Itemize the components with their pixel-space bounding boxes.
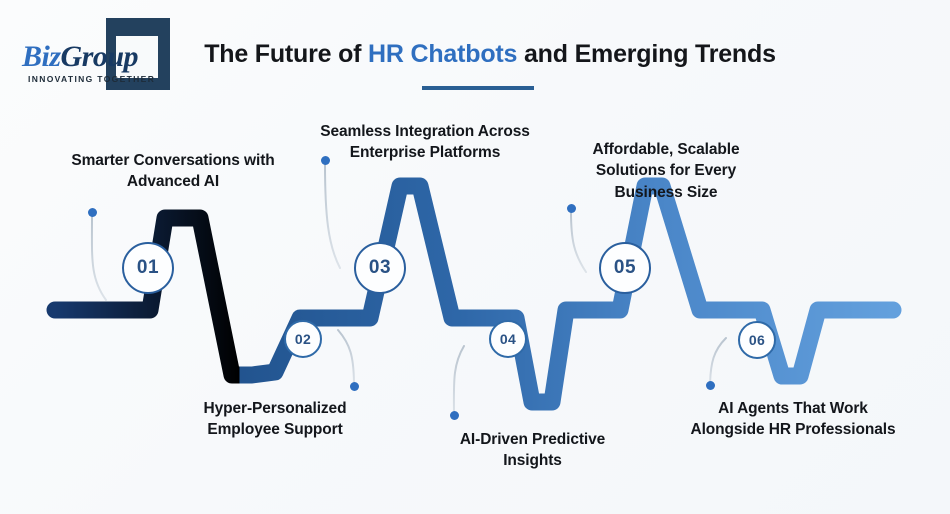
logo-wordmark-group: Group bbox=[61, 40, 139, 73]
logo-wordmark-biz: Biz bbox=[22, 40, 61, 73]
milestone-node-02[interactable]: 02 bbox=[284, 320, 322, 358]
milestone-label-05-line3: Business Size bbox=[556, 182, 776, 203]
connector-dot-02 bbox=[350, 382, 359, 391]
milestone-label-02: Hyper-Personalized Employee Support bbox=[160, 398, 390, 441]
milestone-label-01-line2: Advanced AI bbox=[28, 171, 318, 192]
milestone-node-04[interactable]: 04 bbox=[489, 320, 527, 358]
milestone-label-03: Seamless Integration Across Enterprise P… bbox=[290, 121, 560, 164]
wave-line bbox=[55, 186, 893, 402]
milestone-label-02-line2: Employee Support bbox=[160, 419, 390, 440]
connector-stem-04 bbox=[454, 346, 464, 419]
connector-stem-03 bbox=[325, 164, 340, 268]
connector-dot-04 bbox=[450, 411, 459, 420]
milestone-label-02-line1: Hyper-Personalized bbox=[160, 398, 390, 419]
logo-wordmark: BizGroup bbox=[22, 40, 138, 74]
milestone-label-04: AI-Driven Predictive Insights bbox=[420, 429, 645, 472]
milestone-label-06-line1: AI Agents That Work bbox=[668, 398, 918, 419]
milestone-label-04-line1: AI-Driven Predictive bbox=[420, 429, 645, 450]
milestone-label-05-line1: Affordable, Scalable bbox=[556, 139, 776, 160]
milestone-label-01-line1: Smarter Conversations with bbox=[28, 150, 318, 171]
connector-stem-01 bbox=[92, 216, 106, 300]
milestone-label-04-line2: Insights bbox=[420, 450, 645, 471]
milestone-node-05[interactable]: 05 bbox=[599, 242, 651, 294]
milestone-label-05: Affordable, Scalable Solutions for Every… bbox=[556, 139, 776, 203]
connector-dot-01 bbox=[88, 208, 97, 217]
milestone-node-01[interactable]: 01 bbox=[122, 242, 174, 294]
milestone-label-06: AI Agents That Work Alongside HR Profess… bbox=[668, 398, 918, 441]
logo-tagline: INNOVATING TOGETHER bbox=[28, 74, 155, 84]
milestone-label-03-line2: Enterprise Platforms bbox=[290, 142, 560, 163]
milestone-label-06-line2: Alongside HR Professionals bbox=[668, 419, 918, 440]
milestone-label-05-line2: Solutions for Every bbox=[556, 160, 776, 181]
connector-stem-05 bbox=[571, 212, 586, 272]
milestone-node-03[interactable]: 03 bbox=[354, 242, 406, 294]
infographic-canvas: BizGroup INNOVATING TOGETHER The Future … bbox=[0, 0, 950, 514]
milestone-node-06[interactable]: 06 bbox=[738, 321, 776, 359]
milestone-label-03-line1: Seamless Integration Across bbox=[290, 121, 560, 142]
connector-stem-02 bbox=[338, 330, 354, 386]
connector-dot-06 bbox=[706, 381, 715, 390]
connector-dot-05 bbox=[567, 204, 576, 213]
milestone-label-01: Smarter Conversations with Advanced AI bbox=[28, 150, 318, 193]
